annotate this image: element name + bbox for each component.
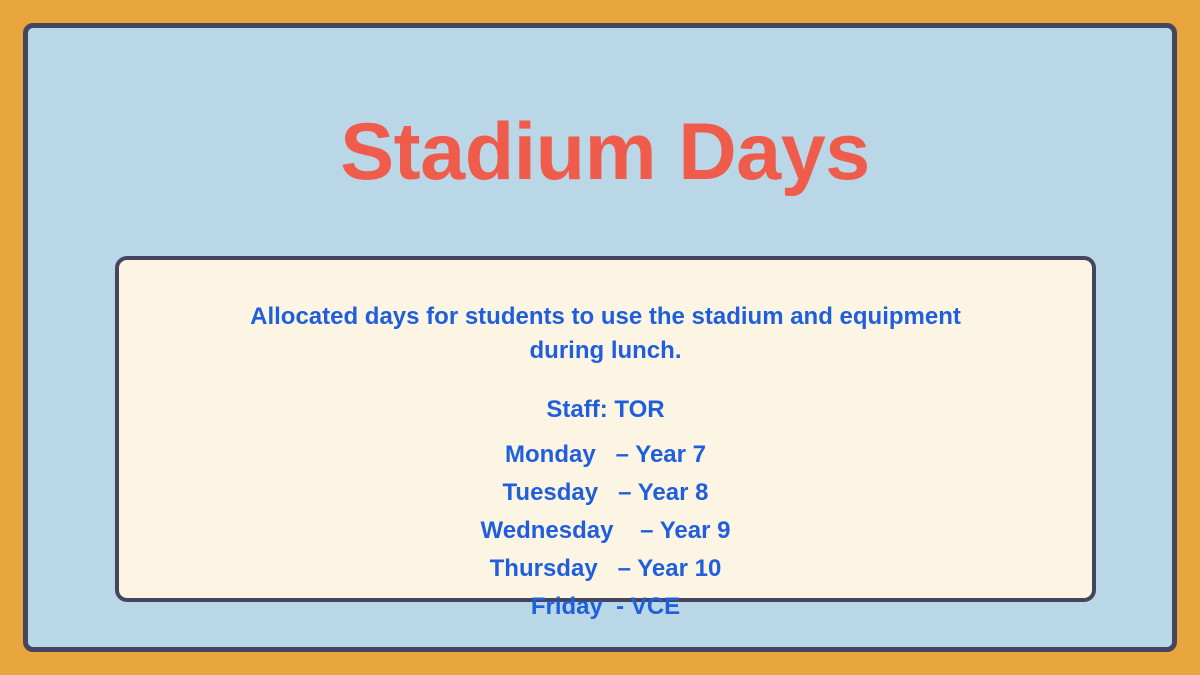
schedule-row-thursday: Thursday – Year 10 [119,550,1092,588]
schedule-row-tuesday: Tuesday – Year 8 [119,474,1092,512]
slide-panel: Stadium Days Allocated days for students… [23,23,1177,652]
intro-line-1: Allocated days for students to use the s… [171,300,1040,334]
page-title: Stadium Days [28,110,1182,195]
staff-label: Staff: TOR [119,396,1092,424]
schedule-row-friday: Friday - VCE [119,588,1092,626]
content-card: Allocated days for students to use the s… [115,256,1096,602]
schedule-list: Monday – Year 7 Tuesday – Year 8 Wednesd… [119,436,1092,626]
slide-canvas: Stadium Days Allocated days for students… [0,0,1200,675]
intro-text: Allocated days for students to use the s… [119,300,1092,368]
schedule-row-monday: Monday – Year 7 [119,436,1092,474]
intro-line-2: during lunch. [171,334,1040,368]
schedule-row-wednesday: Wednesday – Year 9 [119,512,1092,550]
